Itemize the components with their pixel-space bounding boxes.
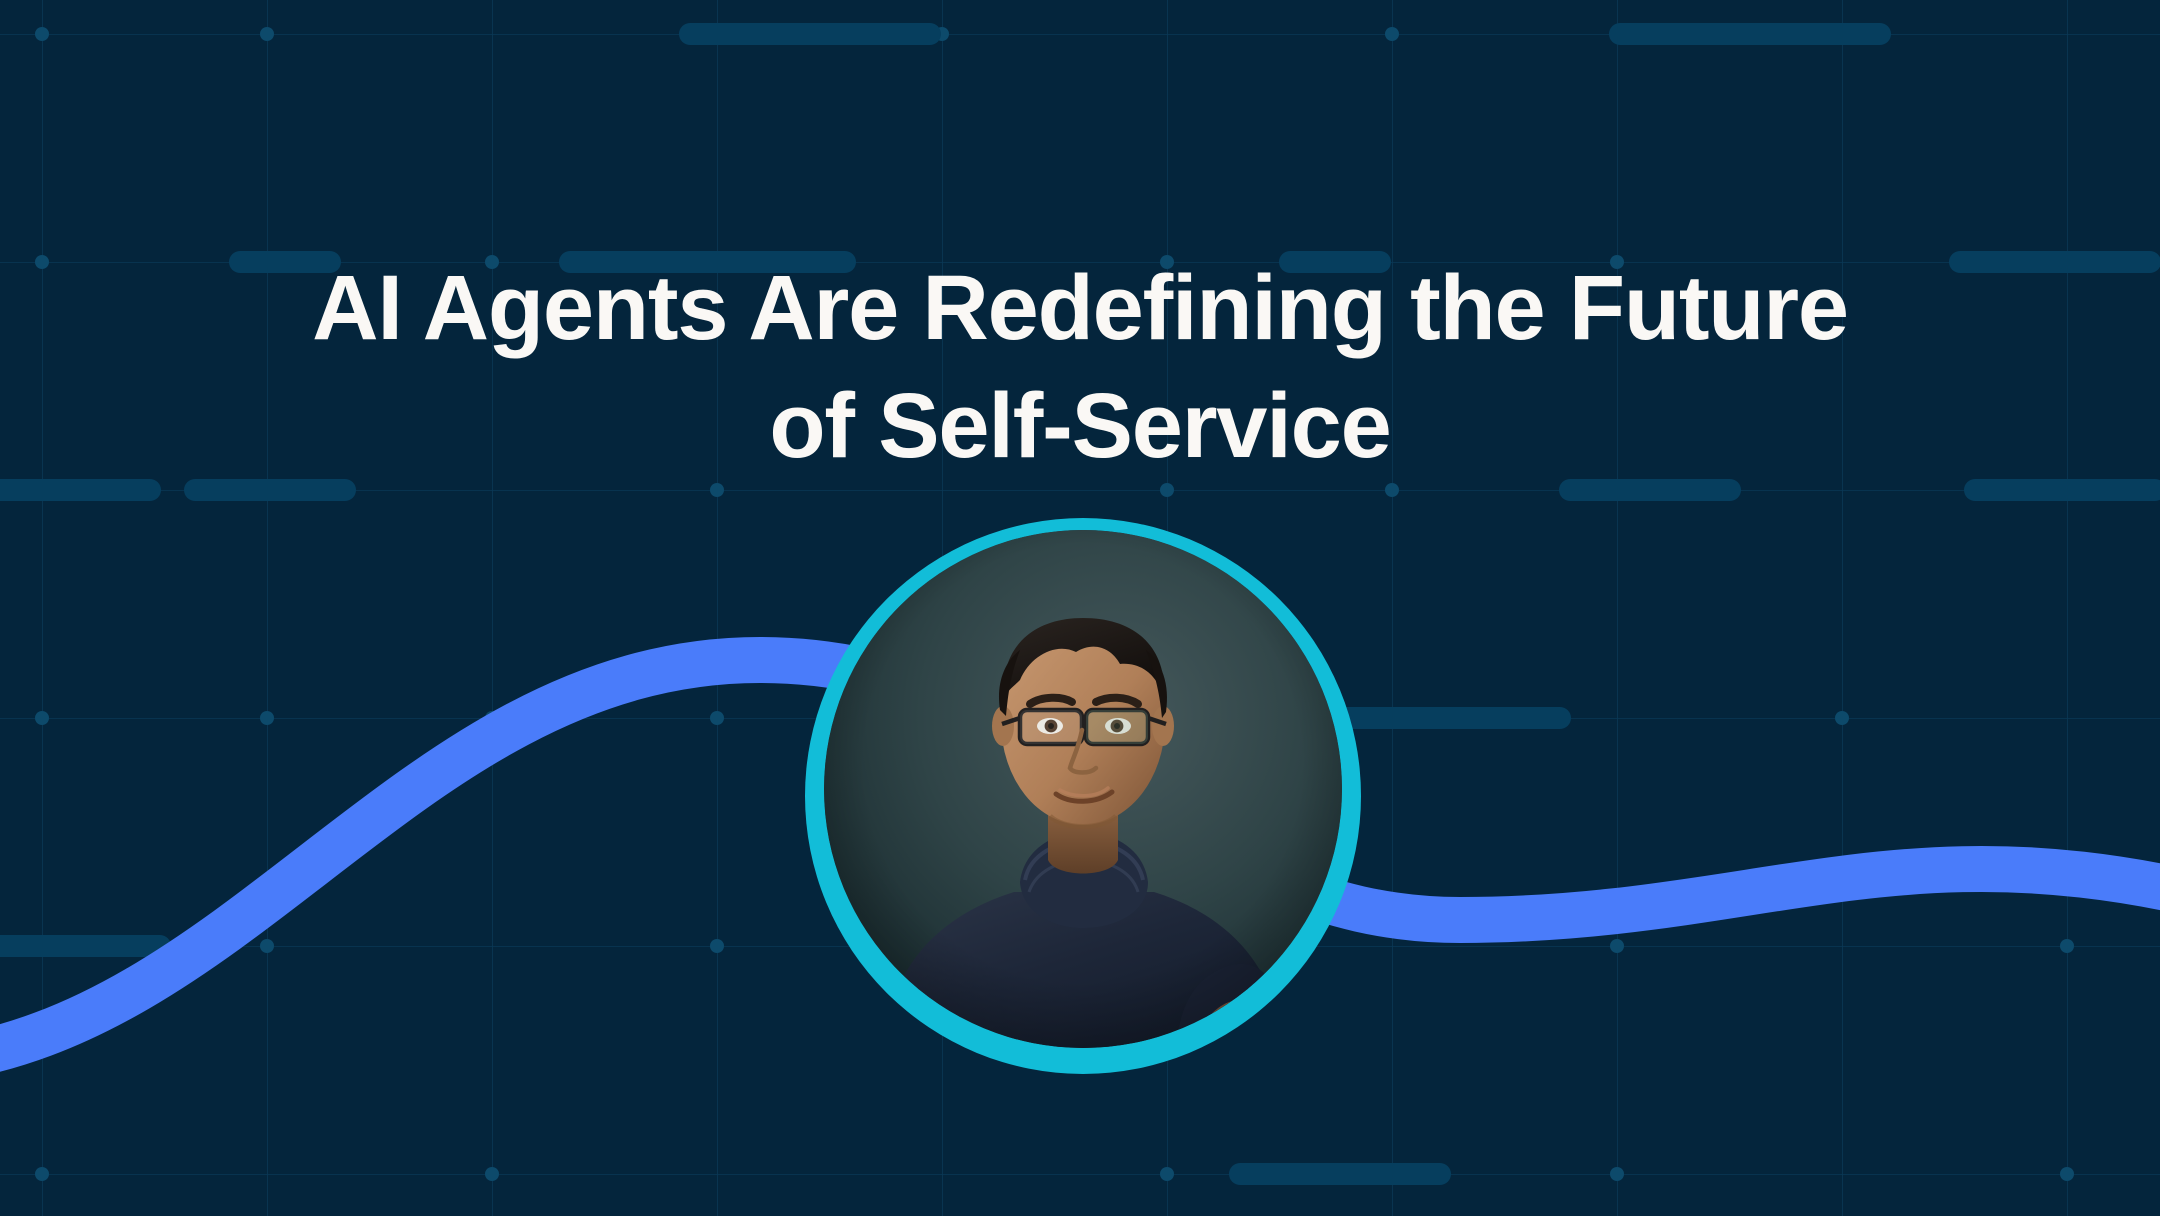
- speaker-portrait-illustration: [824, 530, 1342, 1048]
- avatar: [805, 518, 1361, 1074]
- avatar-photo: [824, 530, 1342, 1048]
- hero-banner: AI Agents Are Redefining the Future of S…: [0, 0, 2160, 1216]
- page-title: AI Agents Are Redefining the Future of S…: [170, 250, 1990, 486]
- title-block: AI Agents Are Redefining the Future of S…: [0, 250, 2160, 486]
